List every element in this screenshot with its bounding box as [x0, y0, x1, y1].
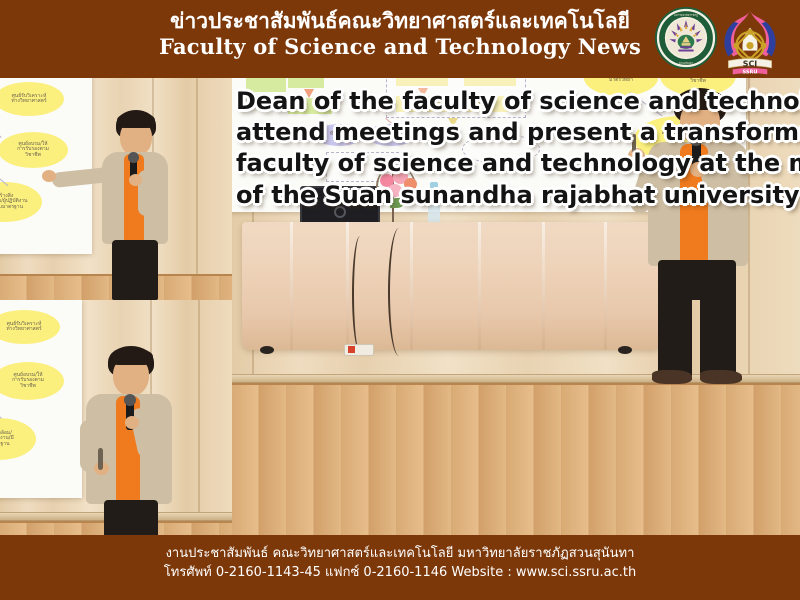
presenter-figure: [630, 82, 780, 382]
svg-text:SSRU: SSRU: [743, 70, 758, 76]
svg-text:มหาวิทยาลัยราชภัฏ: มหาวิทยาลัยราชภัฏ: [674, 13, 698, 17]
sci-ssru-faculty-logo-icon: SCI SSRU: [714, 6, 786, 78]
footer-line-contact: โทรศัพท์ 0-2160-1143-45 แฟกซ์ 0-2160-114…: [0, 564, 800, 583]
photo-bottom-left: ศูนย์รับวิเคราะห์ทางวิทยาศาสตร์ ศูนย์อบร…: [0, 300, 232, 535]
header-bar: ข่าวประชาสัมพันธ์คณะวิทยาศาสตร์และเทคโนโ…: [0, 0, 800, 78]
footer-bar: งานประชาสัมพันธ์ คณะวิทยาศาสตร์และเทคโนโ…: [0, 535, 800, 600]
photo-main-meeting-room: ที่ปรึกษา มีชื่อเสียง ศูนย์ทดสอบ/มาตรวิท…: [232, 78, 800, 535]
photo-top-left: ศูนย์รับวิเคราะห์ทางวิทยาศาสตร์ ศูนย์อบร…: [0, 78, 232, 300]
footer-contact-block: งานประชาสัมพันธ์ คณะวิทยาศาสตร์และเทคโนโ…: [0, 545, 800, 583]
footer-line-organisation: งานประชาสัมพันธ์ คณะวิทยาศาสตร์และเทคโนโ…: [0, 545, 800, 564]
news-banner: ข่าวประชาสัมพันธ์คณะวิทยาศาสตร์และเทคโนโ…: [0, 0, 800, 600]
svg-text:SCI: SCI: [743, 59, 757, 68]
photo-collage: ศูนย์รับวิเคราะห์ทางวิทยาศาสตร์ ศูนย์อบร…: [0, 78, 800, 535]
ssru-university-seal-icon: มหาวิทยาลัยราชภัฏ สวนสุนันทา: [654, 6, 718, 70]
